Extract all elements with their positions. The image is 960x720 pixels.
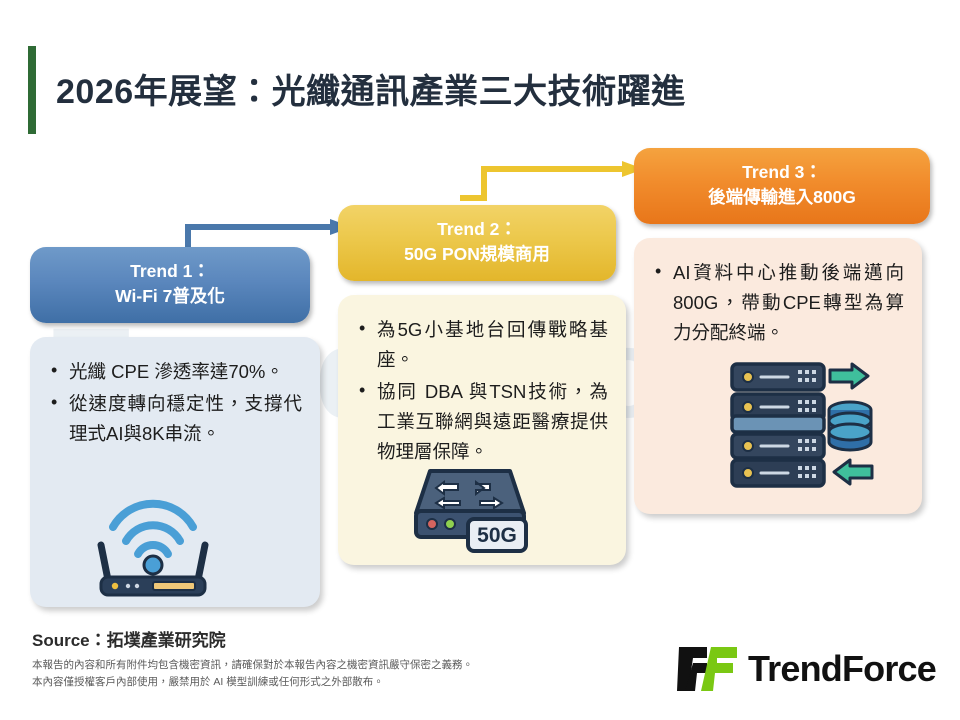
trendforce-logo-mark <box>677 645 739 693</box>
disclaimer-text: 本報告的內容和所有附件均包含機密資訊，請確保對於本報告內容之機密資訊嚴守保密之義… <box>32 657 473 692</box>
wifi-router-icon <box>87 489 219 601</box>
trend-3-bullet-1: AI資料中心推動後端邁向800G，帶動CPE轉型為算力分配終端。 <box>652 258 904 348</box>
page-title: 2026年展望：光纖通訊產業三大技術躍進 <box>56 64 686 113</box>
arrow-trend2-to-trend3 <box>458 158 648 206</box>
slide-canvas: TrendForce 2026年展望：光纖通訊產業三大技術躍進 Trend 1：… <box>0 0 960 720</box>
switch-speed-label: 50G <box>477 524 517 547</box>
trend-3-bullet-list: AI資料中心推動後端邁向800G，帶動CPE轉型為算力分配終端。 <box>652 258 904 348</box>
disclaimer-line-2: 本內容僅授權客戶內部使用，嚴禁用於 AI 模型訓練或任何形式之外部散布。 <box>32 674 473 691</box>
trend-card-2[interactable]: Trend 2： 50G PON規模商用 為5G小基地台回傳戰略基座。 協同 D… <box>338 205 626 565</box>
trend-2-header: Trend 2： 50G PON規模商用 <box>338 205 616 281</box>
disclaimer-line-1: 本報告的內容和所有附件均包含機密資訊，請確保對於本報告內容之機密資訊嚴守保密之義… <box>32 657 473 674</box>
trendforce-logo: TrendForce <box>677 645 936 693</box>
server-rack-icon <box>726 356 876 492</box>
trend-2-bullet-list: 為5G小基地台回傳戰略基座。 協同 DBA 與TSN技術，為工業互聯網與遠距醫療… <box>356 315 608 467</box>
trend-1-header: Trend 1： Wi-Fi 7普及化 <box>30 247 310 323</box>
data-in-arrow-icon <box>834 460 872 484</box>
trend-2-body: 為5G小基地台回傳戰略基座。 協同 DBA 與TSN技術，為工業互聯網與遠距醫療… <box>338 295 626 565</box>
network-switch-icon: 50G <box>406 451 542 559</box>
trend-3-body: AI資料中心推動後端邁向800G，帶動CPE轉型為算力分配終端。 <box>634 238 922 514</box>
trend-1-header-line1: Trend 1： <box>130 261 210 281</box>
source-label: Source：拓墣產業研究院 <box>32 626 226 651</box>
trend-1-bullet-list: 光纖 CPE 滲透率達70%。 從速度轉向穩定性，支撐代理式AI與8K串流。 <box>48 357 302 449</box>
data-out-arrow-icon <box>830 364 868 388</box>
trend-1-body: 光纖 CPE 滲透率達70%。 從速度轉向穩定性，支撐代理式AI與8K串流。 <box>30 337 320 607</box>
trend-2-bullet-1: 為5G小基地台回傳戰略基座。 <box>356 315 608 375</box>
trend-3-header-line2: 後端傳輸進入800G <box>644 185 920 210</box>
trend-card-1[interactable]: Trend 1： Wi-Fi 7普及化 光纖 CPE 滲透率達70%。 從速度轉… <box>30 247 320 607</box>
trend-2-header-line1: Trend 2： <box>437 219 517 239</box>
trend-2-header-line2: 50G PON規模商用 <box>348 242 606 267</box>
trend-3-header: Trend 3： 後端傳輸進入800G <box>634 148 930 224</box>
trend-1-header-line2: Wi-Fi 7普及化 <box>40 284 300 309</box>
trend-3-header-line1: Trend 3： <box>742 162 822 182</box>
trend-card-3[interactable]: Trend 3： 後端傳輸進入800G AI資料中心推動後端邁向800G，帶動C… <box>634 148 930 514</box>
title-accent-bar <box>28 46 36 134</box>
trend-1-bullet-2: 從速度轉向穩定性，支撐代理式AI與8K串流。 <box>48 389 302 449</box>
trendforce-logo-text: TrendForce <box>748 648 936 690</box>
trend-1-bullet-1: 光纖 CPE 滲透率達70%。 <box>48 357 302 387</box>
